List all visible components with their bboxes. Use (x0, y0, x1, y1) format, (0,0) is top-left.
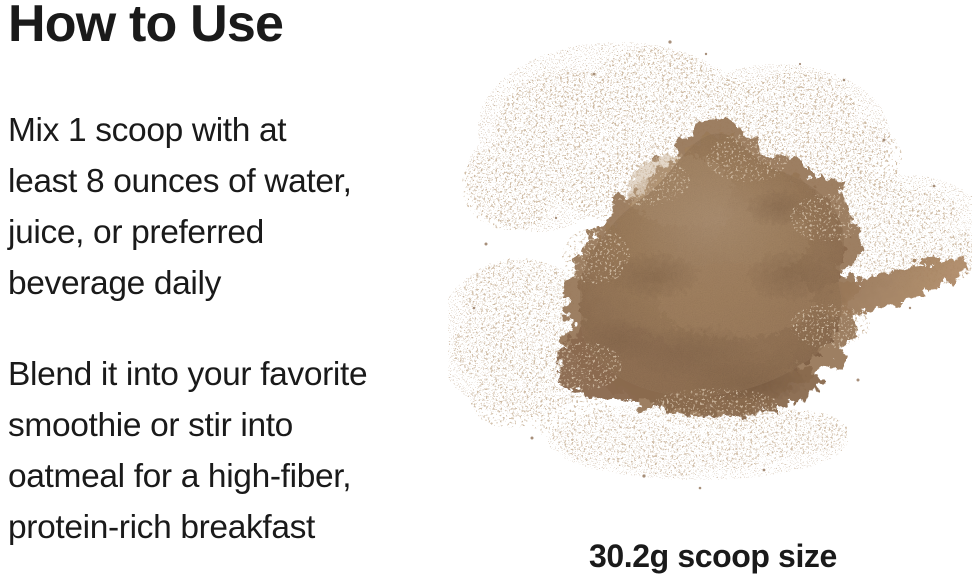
paragraph-line: juice, or preferred (8, 207, 448, 258)
scoop-size-caption: 30.2g scoop size (589, 536, 837, 576)
powder-pile-photo (448, 8, 972, 513)
paragraph-line: protein-rich breakfast (8, 502, 448, 553)
paragraph-line: smoothie or stir into (8, 400, 448, 451)
paragraph-line: least 8 ounces of water, (8, 156, 448, 207)
paragraph-serving-suggestions: Blend it into your favorite smoothie or … (8, 349, 448, 553)
paragraph-line: Mix 1 scoop with at (8, 105, 448, 156)
instructions-column: How to Use Mix 1 scoop with at least 8 o… (8, 0, 448, 587)
powder-pile-illustration (448, 8, 972, 513)
powder-mound (546, 119, 966, 428)
paragraph-line: beverage daily (8, 258, 448, 309)
product-image-column: 30.2g scoop size (448, 0, 972, 587)
paragraph-mixing-instructions: Mix 1 scoop with at least 8 ounces of wa… (8, 105, 448, 309)
how-to-use-panel: How to Use Mix 1 scoop with at least 8 o… (0, 0, 972, 587)
paragraph-line: oatmeal for a high-fiber, (8, 451, 448, 502)
page-title: How to Use (8, 0, 283, 54)
paragraph-line: Blend it into your favorite (8, 349, 448, 400)
